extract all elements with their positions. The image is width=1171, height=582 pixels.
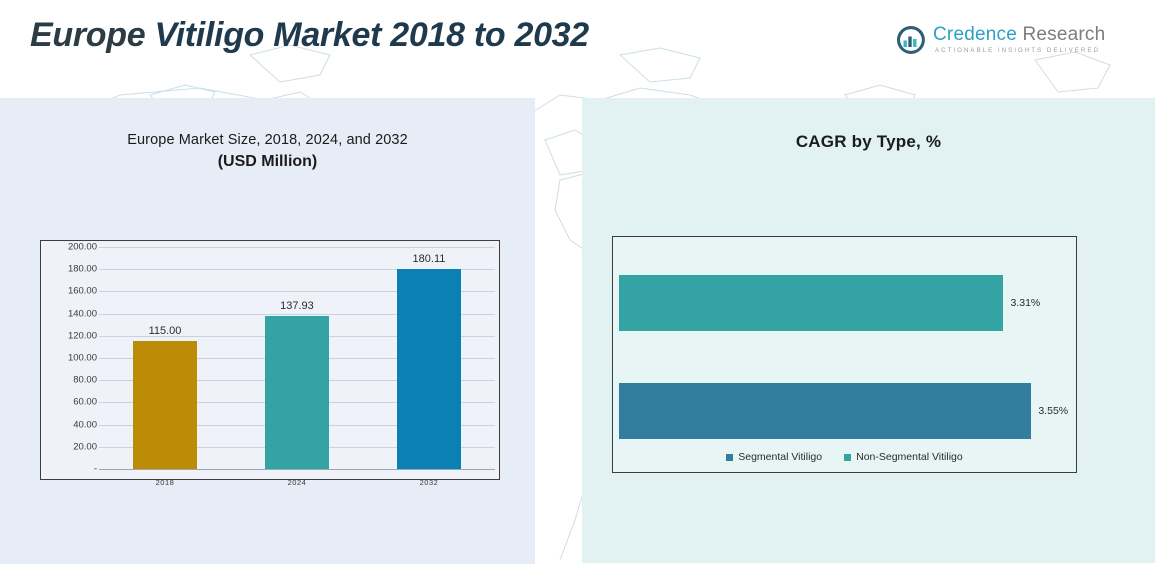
y-axis-tick: 40.00 [73,419,97,430]
logo-wordmark: Credence Research [933,24,1105,46]
bar-2018[interactable] [133,341,197,469]
left-chart-title-line1: Europe Market Size, 2018, 2024, and 2032 [0,132,535,148]
bar-group: 180.112032 [363,247,495,469]
bar-value-label: 115.00 [149,325,182,337]
plot-area-right: 3.31%3.55% [619,243,1070,421]
bar-2032[interactable] [397,269,461,469]
right-chart-title: CAGR by Type, % [582,132,1155,152]
bar-value-label: 180.11 [413,253,446,265]
page-title-part1: Europe [30,16,154,54]
plot-area-left: 115.002018137.932024180.112032 [99,247,495,469]
bar-value-label: 3.31% [1010,297,1040,309]
header: Europe Vitiligo Market 2018 to 2032 Cred… [0,0,1171,96]
page-title: Europe Vitiligo Market 2018 to 2032 [30,16,589,55]
y-axis-tick: 120.00 [68,330,97,341]
bar-group: 137.932024 [231,247,363,469]
x-axis-tick: 2032 [420,478,439,487]
cagr-by-type-bar-chart: 3.31%3.55% Segmental VitiligoNon-Segment… [612,236,1077,473]
y-axis-tick: 200.00 [68,242,97,253]
y-axis-tick: 20.00 [73,441,97,452]
left-chart-title-line2: (USD Million) [0,153,535,171]
logo-word-research: Research [1017,24,1105,45]
logo-tagline: Actionable Insights Delivered [933,46,1105,55]
page-title-part2: Vitiligo Market 2018 to 2032 [154,16,588,54]
bar-non-segmental-vitiligo[interactable] [619,275,1003,331]
logo-text: Credence Research Actionable Insights De… [933,24,1105,55]
y-axis-tick: - [94,464,97,475]
logo-word-credence: Credence [933,24,1017,45]
legend-item[interactable]: Non-Segmental Vitiligo [844,451,963,463]
bar-group: 115.002018 [99,247,231,469]
legend-item[interactable]: Segmental Vitiligo [726,451,822,463]
brand-logo: Credence Research Actionable Insights De… [897,24,1087,64]
bar-row: 3.55% [619,383,1072,439]
legend-swatch-icon [726,454,733,461]
y-axis-tick: 140.00 [68,308,97,319]
y-axis-tick: 180.00 [68,264,97,275]
bar-2024[interactable] [265,316,329,469]
y-axis-tick: 100.00 [68,353,97,364]
bar-chart-circle-icon [897,26,925,54]
legend-swatch-icon [844,454,851,461]
legend-label: Segmental Vitiligo [738,451,822,463]
bar-segmental-vitiligo[interactable] [619,383,1031,439]
bar-value-label: 137.93 [280,300,314,312]
gridline [99,469,495,470]
legend-label: Non-Segmental Vitiligo [856,451,963,463]
chart-legend: Segmental VitiligoNon-Segmental Vitiligo [613,451,1076,463]
x-axis-tick: 2018 [156,478,175,487]
y-axis-tick: 60.00 [73,397,97,408]
bar-row: 3.31% [619,275,1072,331]
bar-value-label: 3.55% [1038,405,1068,417]
y-axis-tick: 80.00 [73,375,97,386]
y-axis-tick: 160.00 [68,286,97,297]
market-size-bar-chart: 200.00180.00160.00140.00120.00100.0080.0… [40,240,500,480]
x-axis-tick: 2024 [288,478,307,487]
y-axis-labels: 200.00180.00160.00140.00120.00100.0080.0… [45,247,97,469]
